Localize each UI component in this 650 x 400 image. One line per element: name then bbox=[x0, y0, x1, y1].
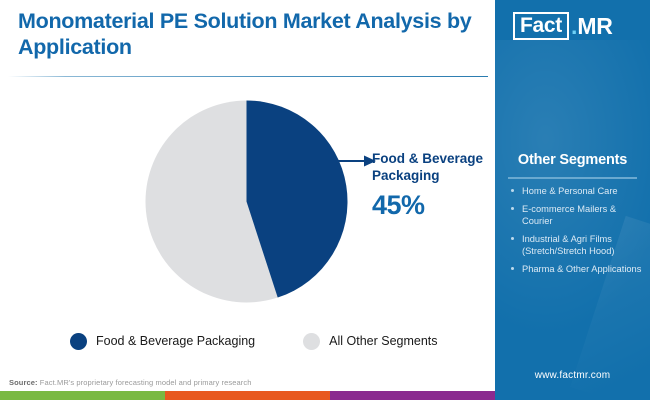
callout-value: 45% bbox=[372, 190, 425, 221]
list-item: Pharma & Other Applications bbox=[508, 263, 644, 276]
pie-chart bbox=[145, 100, 348, 303]
brand-sidebar: Fact . MR Other Segments Home & Personal… bbox=[495, 0, 650, 400]
other-segments-heading: Other Segments bbox=[495, 152, 650, 168]
logo-mr-text: MR bbox=[577, 15, 612, 38]
source-text: Fact.MR's proprietary forecasting model … bbox=[38, 378, 252, 387]
pie-chart-svg bbox=[145, 100, 348, 303]
source-note: Source: Fact.MR's proprietary forecastin… bbox=[9, 378, 251, 387]
source-prefix: Source: bbox=[9, 378, 38, 387]
arrow-right-icon bbox=[336, 152, 376, 170]
legend-swatch-icon bbox=[303, 333, 320, 350]
footer-bar-segment bbox=[330, 391, 495, 400]
chart-panel: Monomaterial PE Solution Market Analysis… bbox=[0, 0, 495, 391]
list-item: Industrial & Agri Films (Stretch/Stretch… bbox=[508, 233, 644, 258]
footer-bar-segment bbox=[0, 391, 165, 400]
logo-box-text: Fact bbox=[513, 12, 569, 40]
page-title: Monomaterial PE Solution Market Analysis… bbox=[18, 8, 478, 60]
callout-label: Food & Beverage Packaging bbox=[372, 150, 494, 185]
legend-item-label: Food & Beverage Packaging bbox=[96, 334, 255, 348]
legend-item-food-beverage-packaging[interactable]: Food & Beverage Packaging bbox=[70, 333, 255, 350]
legend-item-all-other-segments[interactable]: All Other Segments bbox=[303, 333, 437, 350]
legend-swatch-icon bbox=[70, 333, 87, 350]
footer-bar-segment bbox=[165, 391, 330, 400]
other-segments-divider bbox=[508, 177, 637, 179]
list-item: E-commerce Mailers & Courier bbox=[508, 203, 644, 228]
other-segments-list: Home & Personal Care E-commerce Mailers … bbox=[508, 185, 644, 280]
list-item: Home & Personal Care bbox=[508, 185, 644, 198]
infographic-canvas: Monomaterial PE Solution Market Analysis… bbox=[0, 0, 650, 400]
legend-item-label: All Other Segments bbox=[329, 334, 437, 348]
factmr-logo[interactable]: Fact . MR bbox=[513, 12, 613, 40]
chart-legend: Food & Beverage Packaging All Other Segm… bbox=[70, 330, 470, 352]
header-divider bbox=[8, 76, 488, 77]
website-url[interactable]: www.factmr.com bbox=[495, 370, 650, 381]
footer-color-bar bbox=[0, 391, 495, 400]
